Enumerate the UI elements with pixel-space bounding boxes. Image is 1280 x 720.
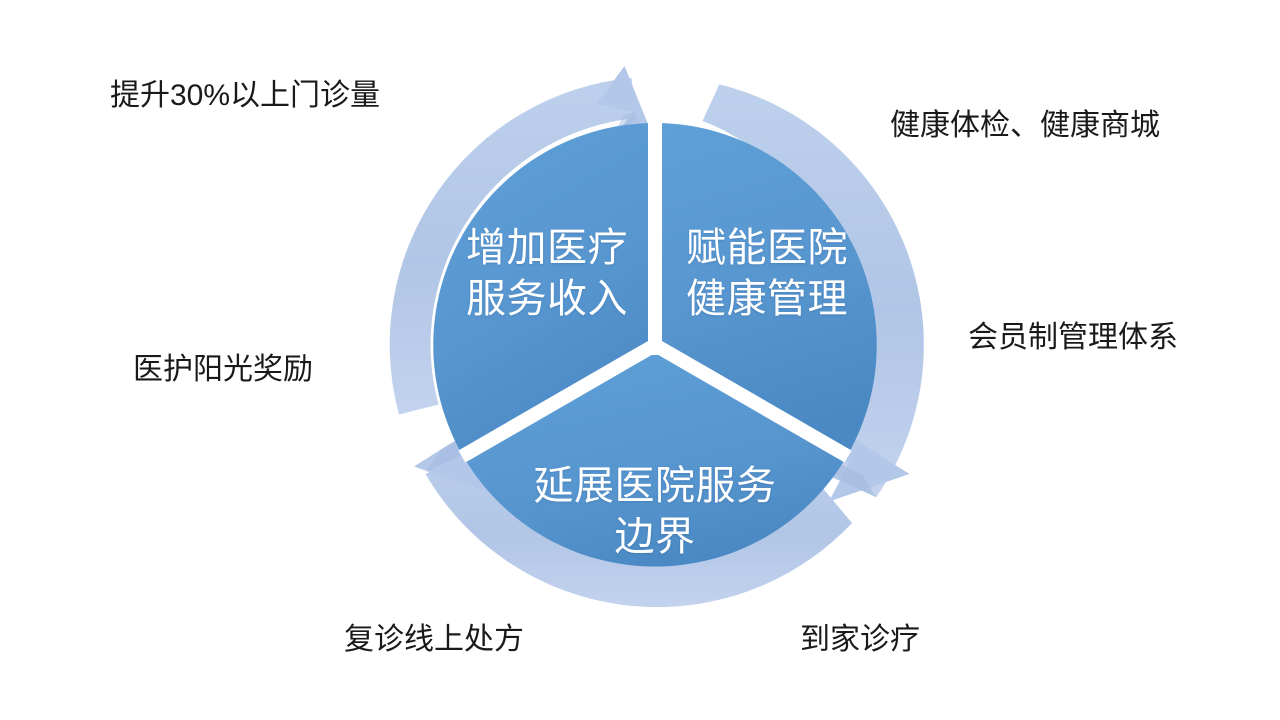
outer-label-right: 会员制管理体系 (968, 320, 1178, 356)
diagram-canvas: 增加医疗 服务收入 赋能医院 健康管理 延展医院服务 边界 提升30%以上门诊量… (0, 0, 1280, 720)
outer-label-bottom-left: 复诊线上处方 (344, 622, 524, 658)
outer-label-top-right: 健康体检、健康商城 (890, 108, 1160, 144)
outer-label-bottom-right: 到家诊疗 (800, 622, 920, 658)
outer-label-top-left: 提升30%以上门诊量 (110, 78, 380, 114)
outer-label-left: 医护阳光奖励 (133, 352, 313, 388)
